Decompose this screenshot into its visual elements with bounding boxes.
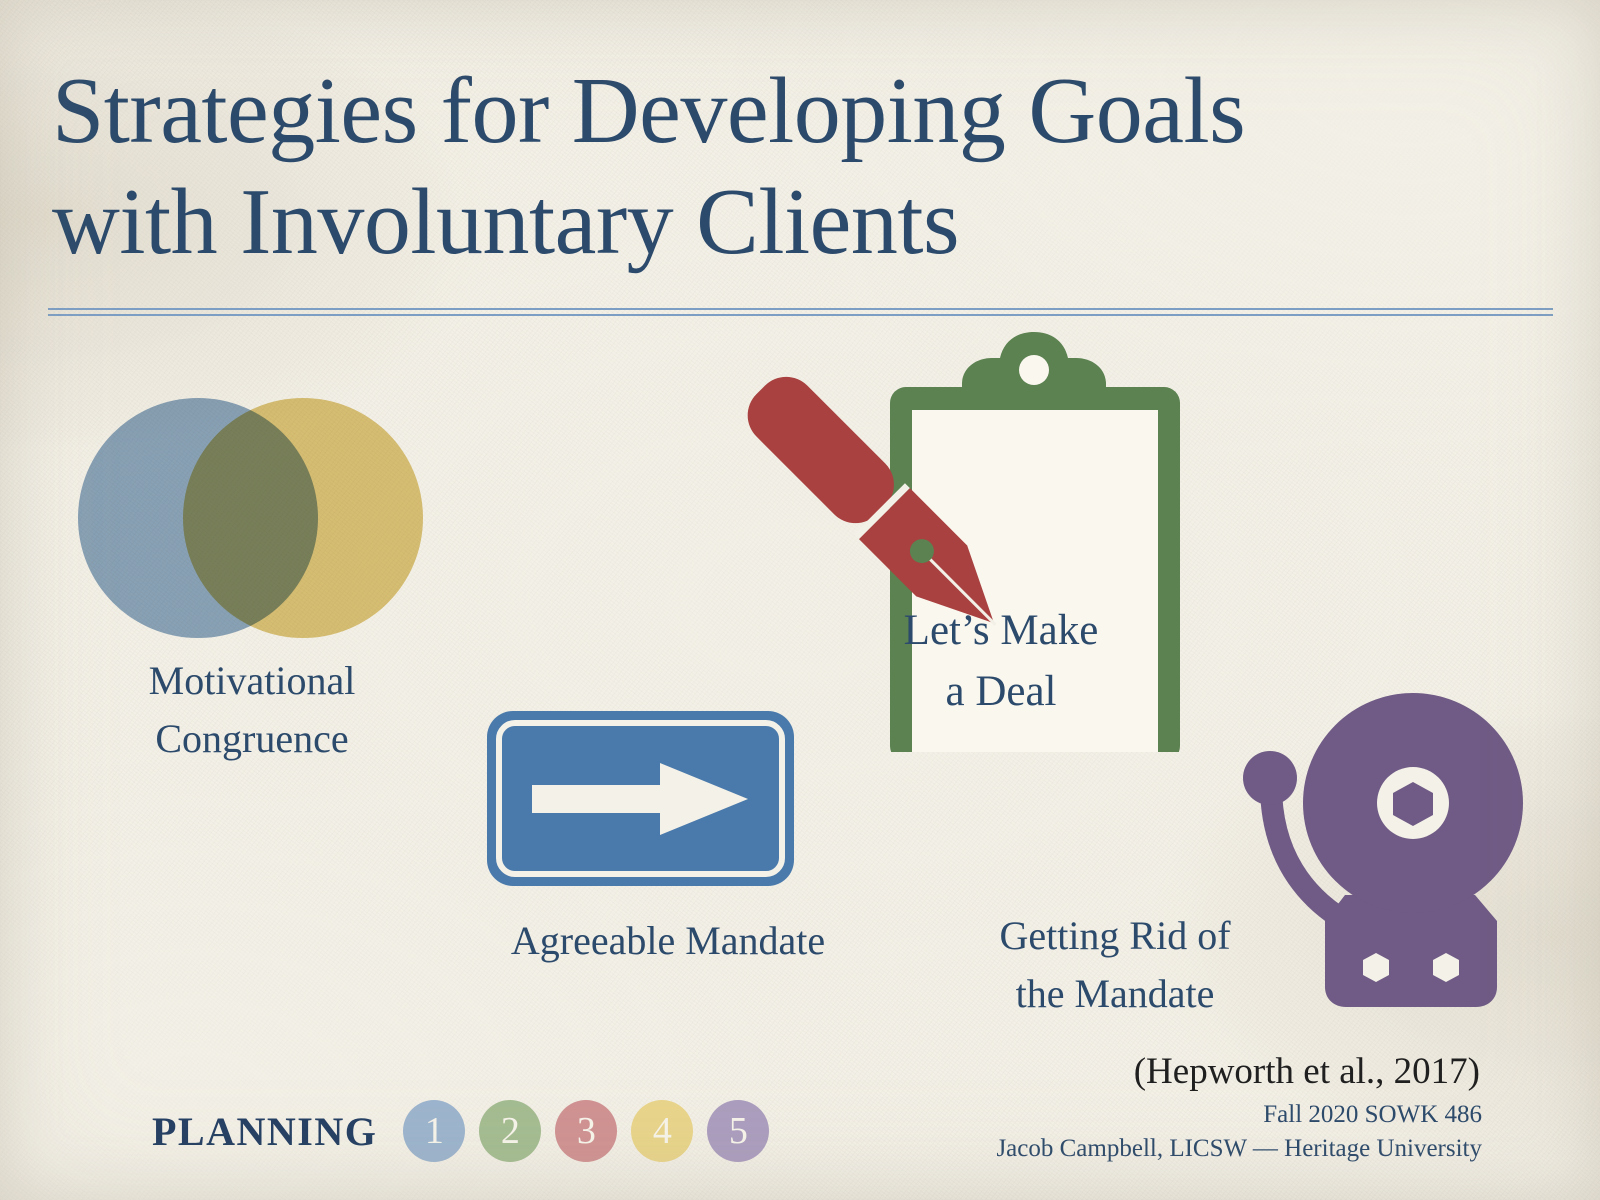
caption-line-2: the Mandate — [905, 965, 1325, 1023]
caption-line-1: Getting Rid of — [905, 907, 1325, 965]
venn-circle-right — [183, 398, 423, 638]
title-divider-rule — [48, 308, 1553, 316]
title-line-1: Strategies for Developing Goals — [52, 56, 1392, 167]
planning-step-indicator: PLANNING 1 2 3 4 5 — [152, 1100, 769, 1162]
divider-line-top — [48, 308, 1553, 310]
caption-agreeable-mandate: Agreeable Mandate — [398, 912, 938, 970]
planning-step-4-number: 4 — [653, 1109, 672, 1153]
citation-text: (Hepworth et al., 2017) — [1134, 1050, 1480, 1093]
planning-step-4[interactable]: 4 — [631, 1100, 693, 1162]
caption-getting-rid-of-the-mandate: Getting Rid of the Mandate — [905, 907, 1325, 1023]
planning-step-2-number: 2 — [501, 1109, 520, 1153]
footer-course: Fall 2020 SOWK 486 — [996, 1098, 1482, 1132]
presentation-slide: Strategies for Developing Goals with Inv… — [0, 0, 1600, 1200]
caption-line-1: Motivational — [52, 652, 452, 710]
right-arrow-icon — [532, 763, 748, 835]
planning-step-5-number: 5 — [729, 1109, 748, 1153]
page-title: Strategies for Developing Goals with Inv… — [52, 56, 1392, 278]
planning-step-2[interactable]: 2 — [479, 1100, 541, 1162]
caption-line-2: Congruence — [52, 710, 452, 768]
planning-step-1[interactable]: 1 — [403, 1100, 465, 1162]
caption-line-1: Let’s Make — [886, 600, 1116, 661]
planning-step-5[interactable]: 5 — [707, 1100, 769, 1162]
divider-line-bottom — [48, 314, 1553, 316]
footer-block: Fall 2020 SOWK 486 Jacob Campbell, LICSW… — [996, 1098, 1482, 1166]
title-line-2: with Involuntary Clients — [52, 167, 1392, 278]
venn-diagram-icon — [78, 398, 423, 638]
caption-line-2: a Deal — [886, 661, 1116, 722]
clipboard-with-pen-icon: Let’s Make a Deal — [700, 332, 1180, 752]
planning-step-3-number: 3 — [577, 1109, 596, 1153]
caption-line-1: Agreeable Mandate — [398, 912, 938, 970]
planning-label: PLANNING — [152, 1108, 377, 1155]
caption-motivational-congruence: Motivational Congruence — [52, 652, 452, 768]
bell-striker-knob — [1243, 751, 1297, 805]
planning-step-1-number: 1 — [425, 1109, 444, 1153]
caption-lets-make-a-deal: Let’s Make a Deal — [886, 600, 1116, 722]
footer-presenter: Jacob Campbell, LICSW — Heritage Univers… — [996, 1132, 1482, 1166]
planning-step-3[interactable]: 3 — [555, 1100, 617, 1162]
